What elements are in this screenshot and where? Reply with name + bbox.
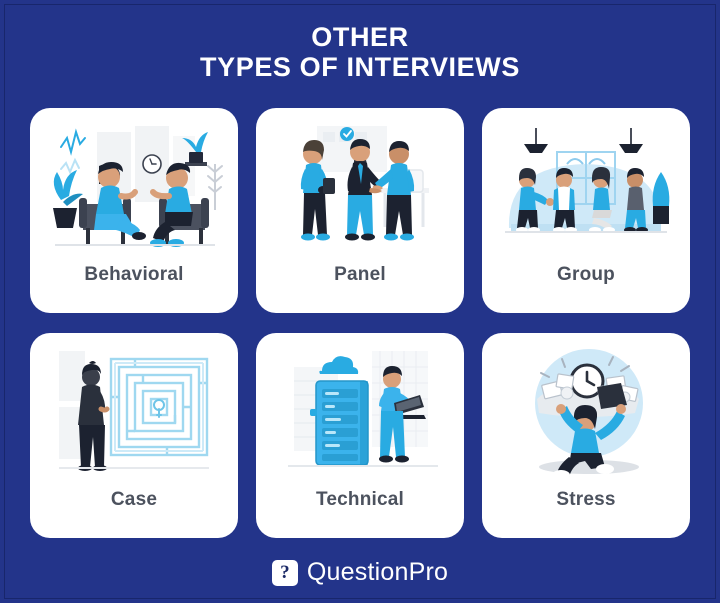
card-behavioral[interactable]: Behavioral — [30, 108, 238, 313]
title-line-1: OTHER — [0, 22, 720, 52]
logo-question-glyph: ? — [280, 563, 290, 582]
interview-types-grid: Behavioral — [30, 108, 690, 538]
card-label: Technical — [256, 489, 464, 511]
card-label: Panel — [256, 264, 464, 286]
brand-footer: ? QuestionPro — [0, 558, 720, 587]
stress-interview-illustration — [482, 333, 690, 485]
card-panel[interactable]: Panel — [256, 108, 464, 313]
page-title: OTHER TYPES OF INTERVIEWS — [0, 22, 720, 82]
card-label: Behavioral — [30, 264, 238, 286]
card-label: Stress — [482, 489, 690, 511]
case-interview-illustration — [30, 333, 238, 485]
card-label: Group — [482, 264, 690, 286]
card-label: Case — [30, 489, 238, 511]
card-technical[interactable]: Technical — [256, 333, 464, 538]
card-case[interactable]: Case — [30, 333, 238, 538]
group-interview-illustration — [482, 108, 690, 260]
behavioral-interview-illustration — [30, 108, 238, 260]
infographic-poster: OTHER TYPES OF INTERVIEWS — [0, 0, 720, 603]
technical-interview-illustration — [256, 333, 464, 485]
brand-name: QuestionPro — [307, 558, 448, 587]
title-line-2: TYPES OF INTERVIEWS — [0, 52, 720, 82]
panel-interview-illustration — [256, 108, 464, 260]
card-group[interactable]: Group — [482, 108, 690, 313]
questionpro-logo-icon: ? — [272, 560, 298, 586]
card-stress[interactable]: Stress — [482, 333, 690, 538]
